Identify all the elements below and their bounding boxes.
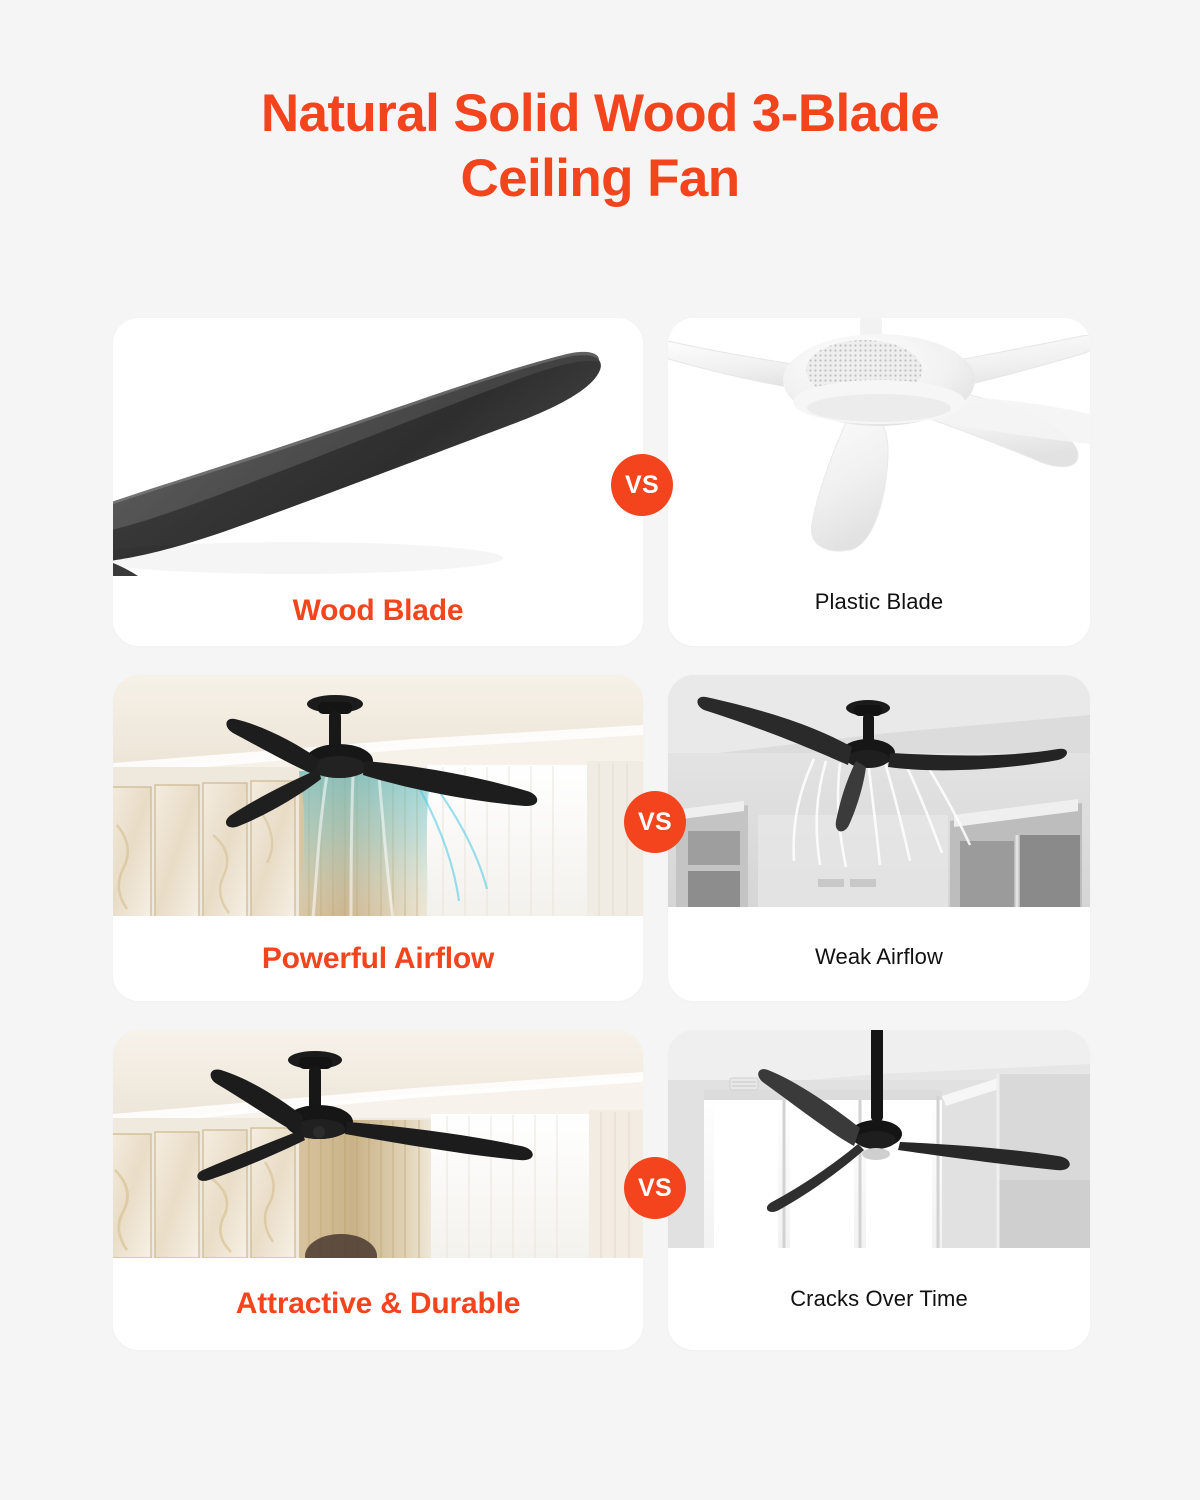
comparison-label-pro: Wood Blade [293, 594, 464, 628]
wood-blade-closeup-image [113, 318, 643, 576]
powerful-airflow-room-image [113, 675, 643, 918]
card-label-plastic-blade: Plastic Blade [668, 558, 1090, 646]
comparison-row-blade-material: Wood Blade [0, 318, 1200, 646]
vs-badge-label: VS [638, 808, 672, 837]
comparison-card-powerful-airflow: Powerful Airflow [113, 675, 643, 1001]
card-label-weak-airflow: Weak Airflow [668, 913, 1090, 1001]
vs-badge: VS [624, 1157, 686, 1219]
comparison-label-pro: Attractive & Durable [236, 1287, 520, 1321]
card-label-attractive-durable: Attractive & Durable [113, 1258, 643, 1350]
comparison-label-con: Cracks Over Time [790, 1286, 968, 1312]
comparison-label-con: Weak Airflow [815, 944, 943, 970]
weak-airflow-room-image [668, 675, 1090, 907]
infographic-page: Natural Solid Wood 3-Blade Ceiling Fan [0, 0, 1200, 1500]
page-title: Natural Solid Wood 3-Blade Ceiling Fan [0, 82, 1200, 211]
comparison-card-cracks-over-time: Cracks Over Time [668, 1030, 1090, 1350]
comparison-card-weak-airflow: Weak Airflow [668, 675, 1090, 1001]
comparison-card-attractive-durable: Attractive & Durable [113, 1030, 643, 1350]
vs-badge: VS [611, 454, 673, 516]
vs-badge-label: VS [638, 1174, 672, 1203]
comparison-label-con: Plastic Blade [815, 589, 943, 615]
card-label-powerful-airflow: Powerful Airflow [113, 916, 643, 1001]
page-title-line-2: Ceiling Fan [0, 147, 1200, 212]
plastic-blade-fan-image [668, 318, 1090, 558]
comparison-card-wood-blade: Wood Blade [113, 318, 643, 646]
comparison-row-airflow: Powerful Airflow [0, 675, 1200, 1001]
card-label-wood-blade: Wood Blade [113, 576, 643, 646]
comparison-row-durability: Attractive & Durable [0, 1030, 1200, 1350]
comparison-label-pro: Powerful Airflow [262, 942, 494, 976]
page-title-line-1: Natural Solid Wood 3-Blade [0, 82, 1200, 147]
card-label-cracks-over-time: Cracks Over Time [668, 1248, 1090, 1350]
comparison-card-plastic-blade: Plastic Blade [668, 318, 1090, 646]
vs-badge: VS [624, 791, 686, 853]
attractive-durable-room-image [113, 1030, 643, 1258]
cracks-over-time-image [668, 1030, 1090, 1248]
vs-badge-label: VS [625, 471, 659, 500]
